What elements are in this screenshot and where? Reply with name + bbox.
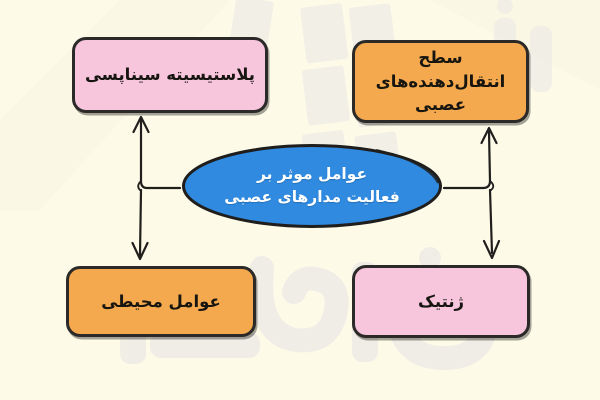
node-neurotransmitter-level-label: سطح انتقال‌دهنده‌های عصبی bbox=[363, 46, 518, 118]
connector-right-group bbox=[444, 128, 499, 258]
arrowhead-up-right bbox=[482, 128, 497, 143]
node-synaptic-plasticity-label: پلاستیسیته سیناپسی bbox=[83, 63, 257, 87]
arrowhead-down-left bbox=[133, 243, 148, 259]
node-environmental-factors[interactable]: عوامل محیطی bbox=[66, 266, 256, 337]
connector-central-to-environmental-factors bbox=[140, 190, 141, 255]
connector-left-group bbox=[133, 117, 181, 259]
arrowhead-up-left bbox=[134, 117, 149, 132]
node-neurotransmitter-level[interactable]: سطح انتقال‌دهنده‌های عصبی bbox=[352, 40, 529, 123]
node-synaptic-plasticity[interactable]: پلاستیسیته سیناپسی bbox=[72, 37, 268, 113]
connector-central-to-neurotransmitter-level bbox=[489, 132, 490, 181]
central-topic-label: عوامل موثر بر فعالیت مدارهای عصبی bbox=[180, 143, 444, 229]
node-central-topic[interactable]: عوامل موثر بر فعالیت مدارهای عصبی bbox=[180, 143, 444, 229]
connector-right-stub bbox=[444, 181, 490, 188]
connector-central-to-genetics bbox=[490, 190, 492, 253]
connector-left-stub bbox=[141, 181, 180, 188]
node-genetics-label: ژنتیک bbox=[363, 290, 519, 314]
arrowhead-down-right bbox=[484, 241, 499, 258]
diagram-canvas: پلاستیسیته سیناپسی سطح انتقال‌دهنده‌های … bbox=[0, 0, 600, 400]
node-genetics[interactable]: ژنتیک bbox=[352, 265, 530, 338]
node-environmental-factors-label: عوامل محیطی bbox=[77, 290, 245, 314]
